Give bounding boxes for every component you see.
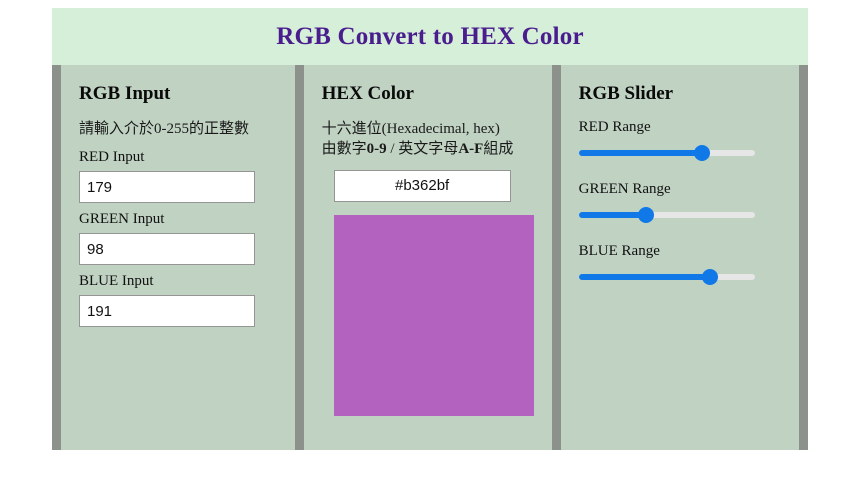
blue-range-label: BLUE Range [579, 243, 781, 260]
hex-color-input[interactable] [334, 170, 511, 202]
blue-slider-thumb[interactable] [702, 269, 718, 285]
green-range-label: GREEN Range [579, 181, 781, 198]
red-slider-row [579, 143, 781, 163]
hex-color-hint: 十六進位(Hexadecimal, hex) 由數字0-9 / 英文字母A-F組… [322, 119, 534, 160]
color-preview-swatch [334, 215, 534, 416]
green-slider-fill [579, 212, 647, 218]
page-title: RGB Convert to HEX Color [276, 23, 584, 51]
panel-divider-1 [295, 65, 304, 450]
hex-hint-middle: / 英文字母 [387, 141, 459, 157]
red-input-label: RED Input [79, 149, 277, 166]
blue-slider-row [579, 267, 781, 287]
hex-color-title: HEX Color [322, 83, 534, 105]
blue-slider-fill [579, 274, 711, 280]
hex-hint-prefix: 由數字 [322, 141, 367, 157]
panel-divider-2 [552, 65, 561, 450]
rgb-slider-title: RGB Slider [579, 83, 781, 105]
hex-hint-letters: A-F [458, 141, 483, 157]
page-header: RGB Convert to HEX Color [52, 8, 808, 65]
hex-hint-suffix: 組成 [483, 141, 513, 157]
blue-input[interactable] [79, 295, 255, 327]
panels-container: RGB Input 請輸入介於0-255的正整數 RED Input GREEN… [52, 65, 808, 450]
red-range-label: RED Range [579, 119, 781, 136]
red-range-slider[interactable] [579, 144, 755, 162]
red-slider-fill [579, 150, 703, 156]
red-input[interactable] [79, 171, 255, 203]
hex-hint-line1: 十六進位(Hexadecimal, hex) [322, 121, 500, 137]
green-input-label: GREEN Input [79, 211, 277, 228]
rgb-slider-panel: RGB Slider RED Range GREEN Range BLUE Ra… [561, 65, 799, 450]
blue-input-label: BLUE Input [79, 273, 277, 290]
red-slider-thumb[interactable] [694, 145, 710, 161]
hex-hint-digits: 0-9 [367, 141, 387, 157]
green-slider-thumb[interactable] [638, 207, 654, 223]
rgb-input-panel: RGB Input 請輸入介於0-255的正整數 RED Input GREEN… [61, 65, 295, 450]
rgb-input-title: RGB Input [79, 83, 277, 105]
hex-color-panel: HEX Color 十六進位(Hexadecimal, hex) 由數字0-9 … [304, 65, 552, 450]
blue-range-slider[interactable] [579, 268, 755, 286]
rgb-input-hint: 請輸入介於0-255的正整數 [79, 119, 277, 139]
green-input[interactable] [79, 233, 255, 265]
green-range-slider[interactable] [579, 206, 755, 224]
green-slider-row [579, 205, 781, 225]
app-container: RGB Convert to HEX Color RGB Input 請輸入介於… [52, 8, 808, 450]
